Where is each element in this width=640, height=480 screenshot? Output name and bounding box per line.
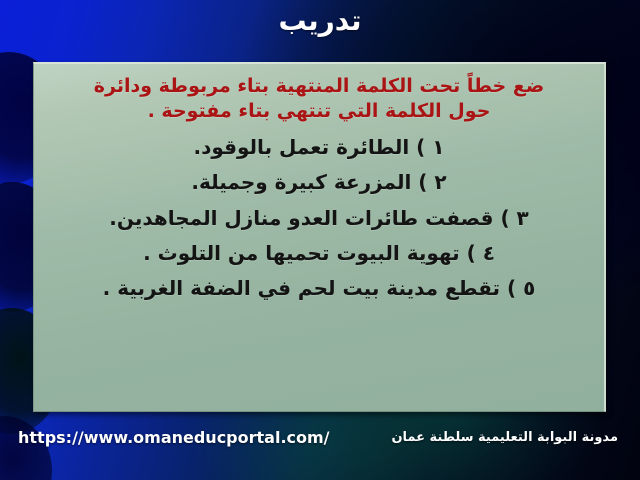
exercise-item-list: ١ ) الطائرة تعمل بالوقود. ٢ ) المزرعة كب…: [48, 130, 590, 306]
slide-title: تدريب: [0, 6, 640, 35]
slide-canvas: تدريب ضع خطاً تحت الكلمة المنتهية بتاء م…: [0, 0, 640, 480]
exercise-instruction: ضع خطاً تحت الكلمة المنتهية بتاء مربوطة …: [74, 74, 564, 124]
slide-footer: https://www.omaneducportal.com/ مدونة ال…: [0, 420, 640, 480]
site-url-link[interactable]: https://www.omaneducportal.com/: [18, 428, 330, 447]
list-item: ٢ ) المزرعة كبيرة وجميلة.: [48, 165, 590, 200]
list-item: ٤ ) تهوية البيوت تحميها من التلوث .: [48, 236, 590, 271]
list-item: ٣ ) قصفت طائرات العدو منازل المجاهدين.: [48, 201, 590, 236]
content-panel: ضع خطاً تحت الكلمة المنتهية بتاء مربوطة …: [33, 62, 606, 412]
blog-name-label: مدونة البوابة التعليمية سلطنة عمان: [391, 430, 618, 445]
list-item: ١ ) الطائرة تعمل بالوقود.: [48, 130, 590, 165]
list-item: ٥ ) تقطع مدينة بيت لحم في الضفة الغربية …: [48, 271, 590, 306]
